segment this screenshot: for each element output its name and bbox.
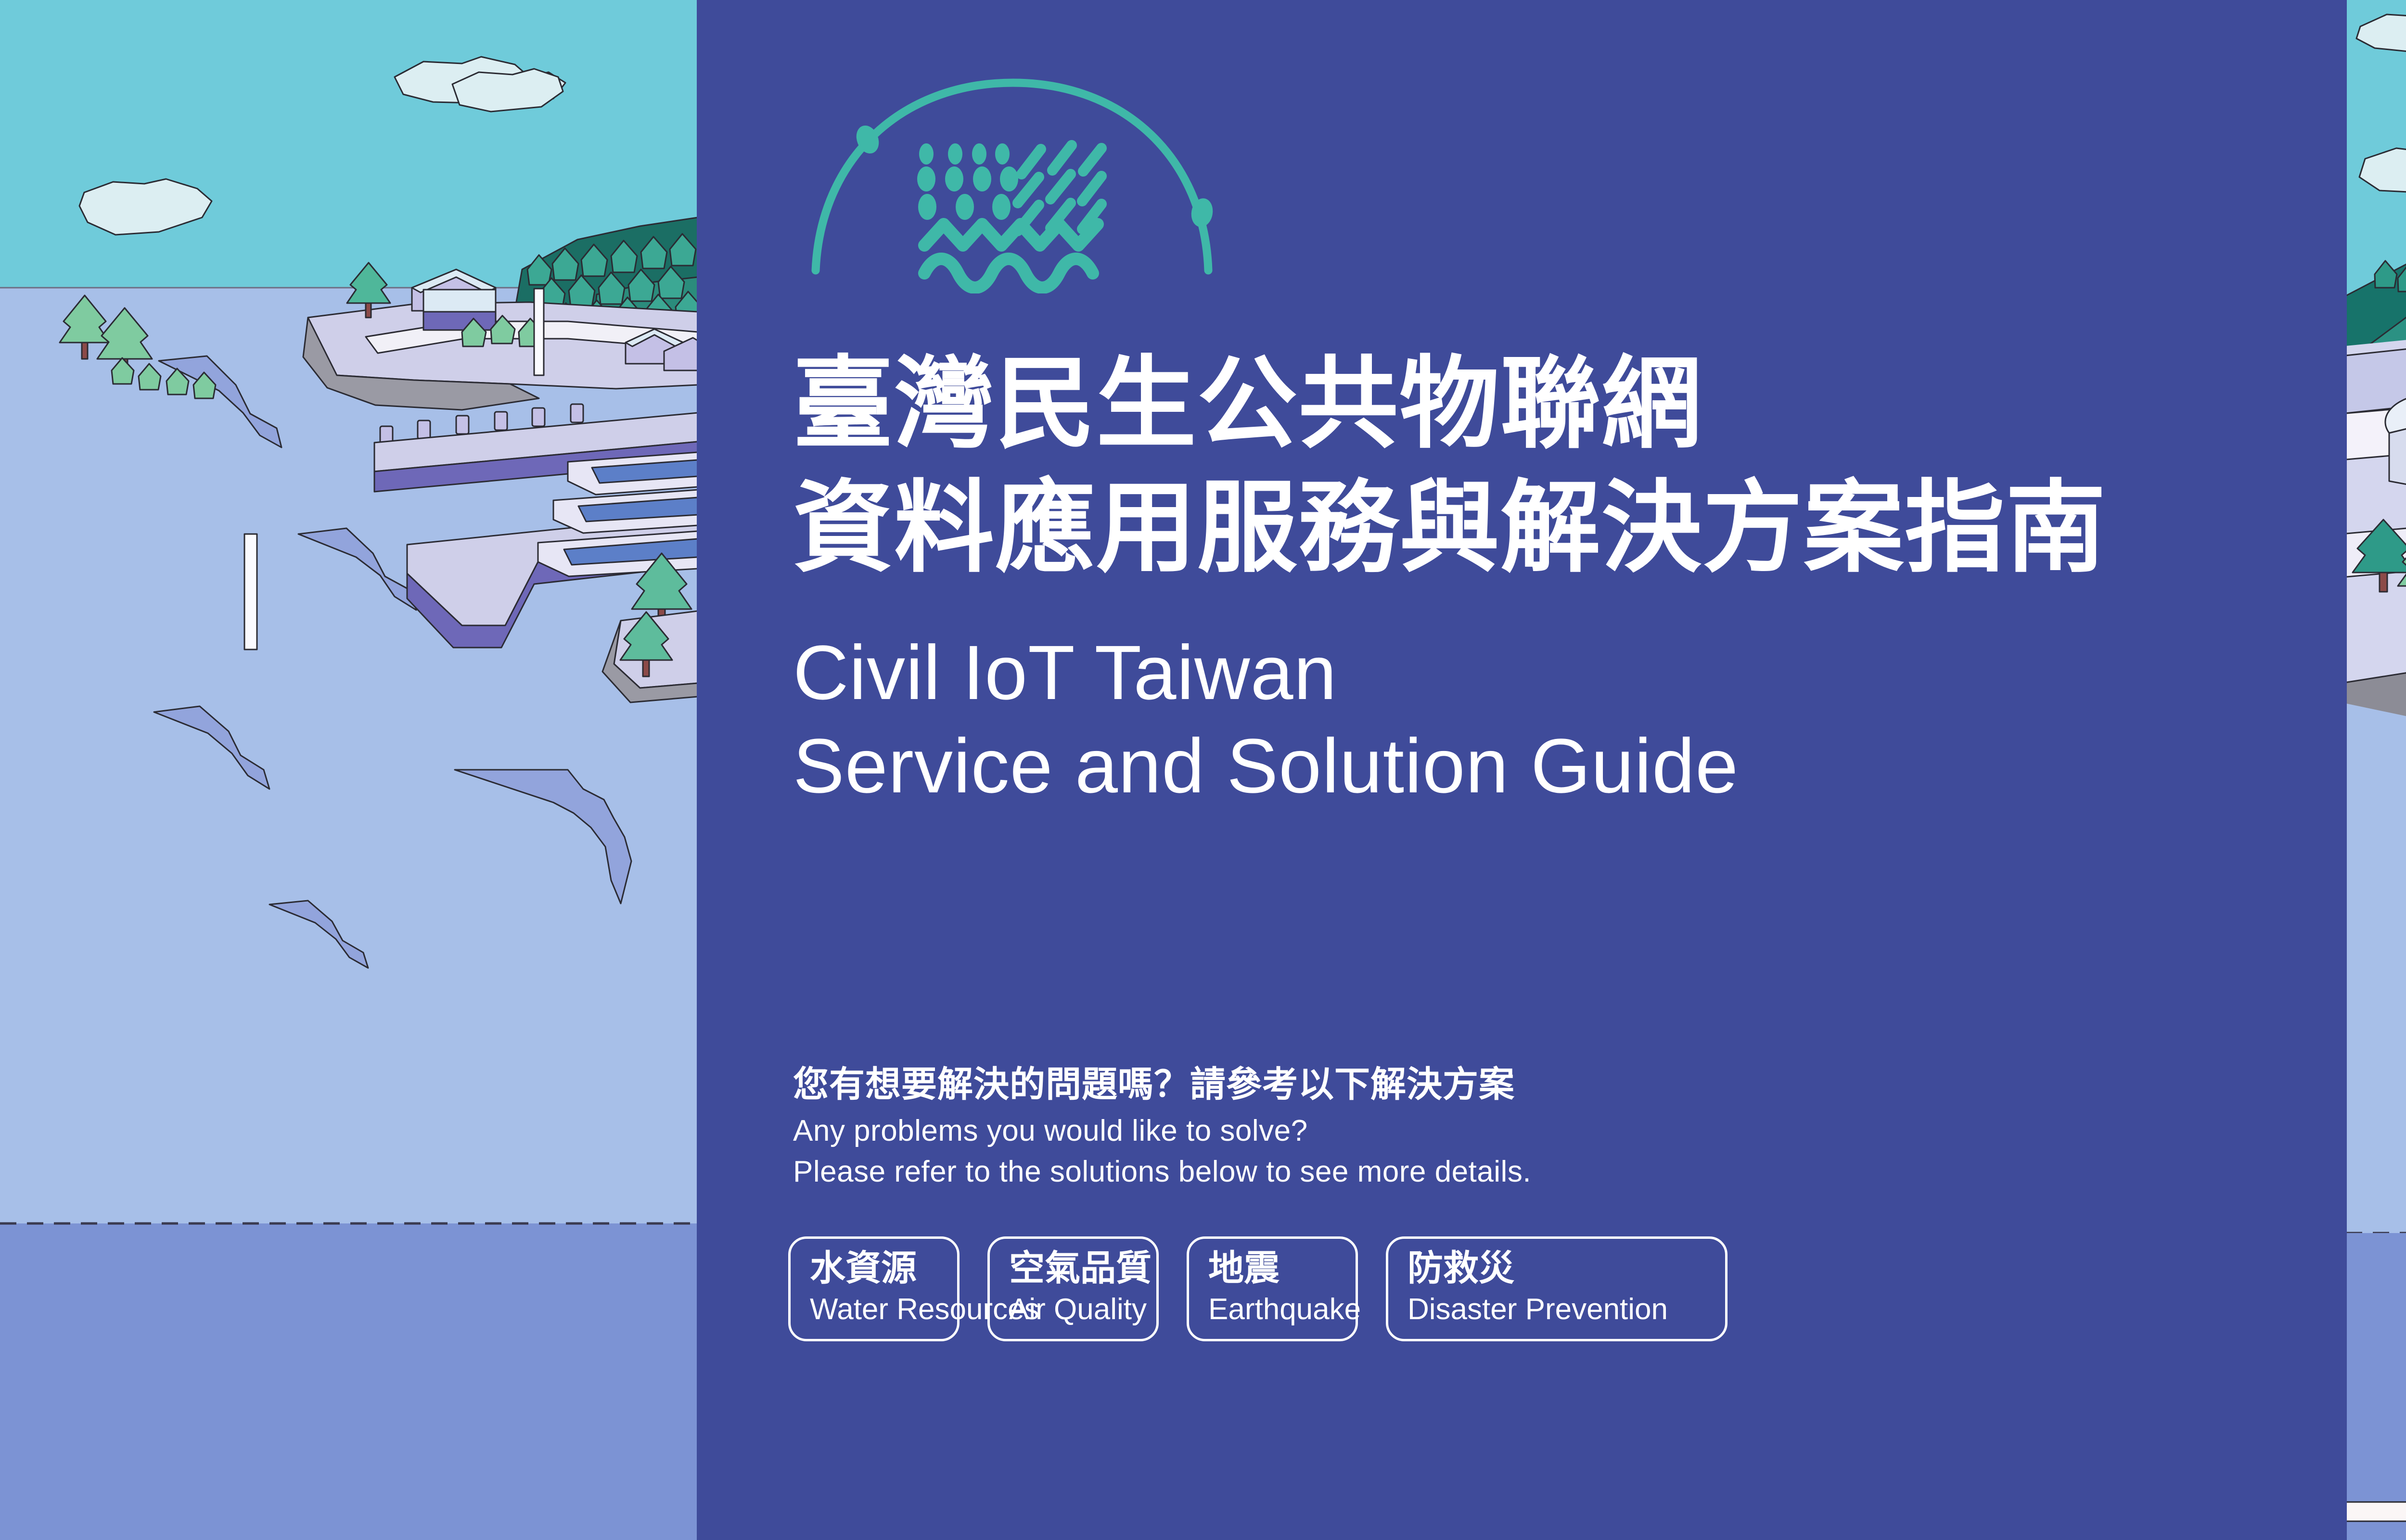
hero-panel: 臺灣民生公共物聯網 資料應用服務與解決方案指南 Civil IoT Taiwan…	[697, 0, 2347, 1540]
category-button-disaster-prevention[interactable]: 防救災 Disaster Prevention	[1386, 1236, 1728, 1341]
prompt-text-en-line2: Please refer to the solutions below to s…	[793, 1155, 1531, 1189]
page-title-en-line2: Service and Solution Guide	[793, 719, 1739, 813]
page-title-en-line1: Civil IoT Taiwan	[793, 625, 1337, 719]
category-button-earthquake[interactable]: 地震 Earthquake	[1187, 1236, 1358, 1341]
banner-root: .ln{stroke:#2B2B33;stroke-width:3;stroke…	[0, 0, 2406, 1540]
category-button-water-resources[interactable]: 水資源 Water Resources	[788, 1236, 960, 1341]
category-button-air-quality[interactable]: 空氣品質 Air Quality	[987, 1236, 1159, 1341]
category-label-zh: 防救災	[1408, 1248, 1706, 1287]
category-label-en: Earthquake	[1208, 1292, 1336, 1326]
category-label-en: Air Quality	[1009, 1292, 1137, 1326]
prompt-text-en-line1: Any problems you would like to solve?	[793, 1114, 1308, 1148]
page-title-zh-line1: 臺灣民生公共物聯網	[793, 342, 1702, 467]
prompt-text-zh: 您有想要解決的問題嗎？請參考以下解決方案	[793, 1056, 1515, 1107]
category-button-row: 水資源 Water Resources 空氣品質 Air Quality 地震 …	[788, 1236, 1728, 1341]
civil-iot-taiwan-arch-logo	[795, 63, 1229, 293]
page-title-zh-line2: 資料應用服務與解決方案指南	[793, 466, 2107, 591]
category-label-zh: 地震	[1208, 1248, 1336, 1287]
coastal-harbour-illustration: .ln{stroke:#2B2B33;stroke-width:3;stroke…	[0, 0, 698, 1540]
category-label-zh: 空氣品質	[1009, 1248, 1137, 1287]
category-label-en: Water Resources	[810, 1292, 938, 1326]
category-label-zh: 水資源	[810, 1248, 938, 1287]
isometric-smart-city-illustration: .L{stroke:#2B2B33;stroke-width:3;stroke-…	[2346, 0, 2406, 1540]
category-label-en: Disaster Prevention	[1408, 1292, 1706, 1326]
